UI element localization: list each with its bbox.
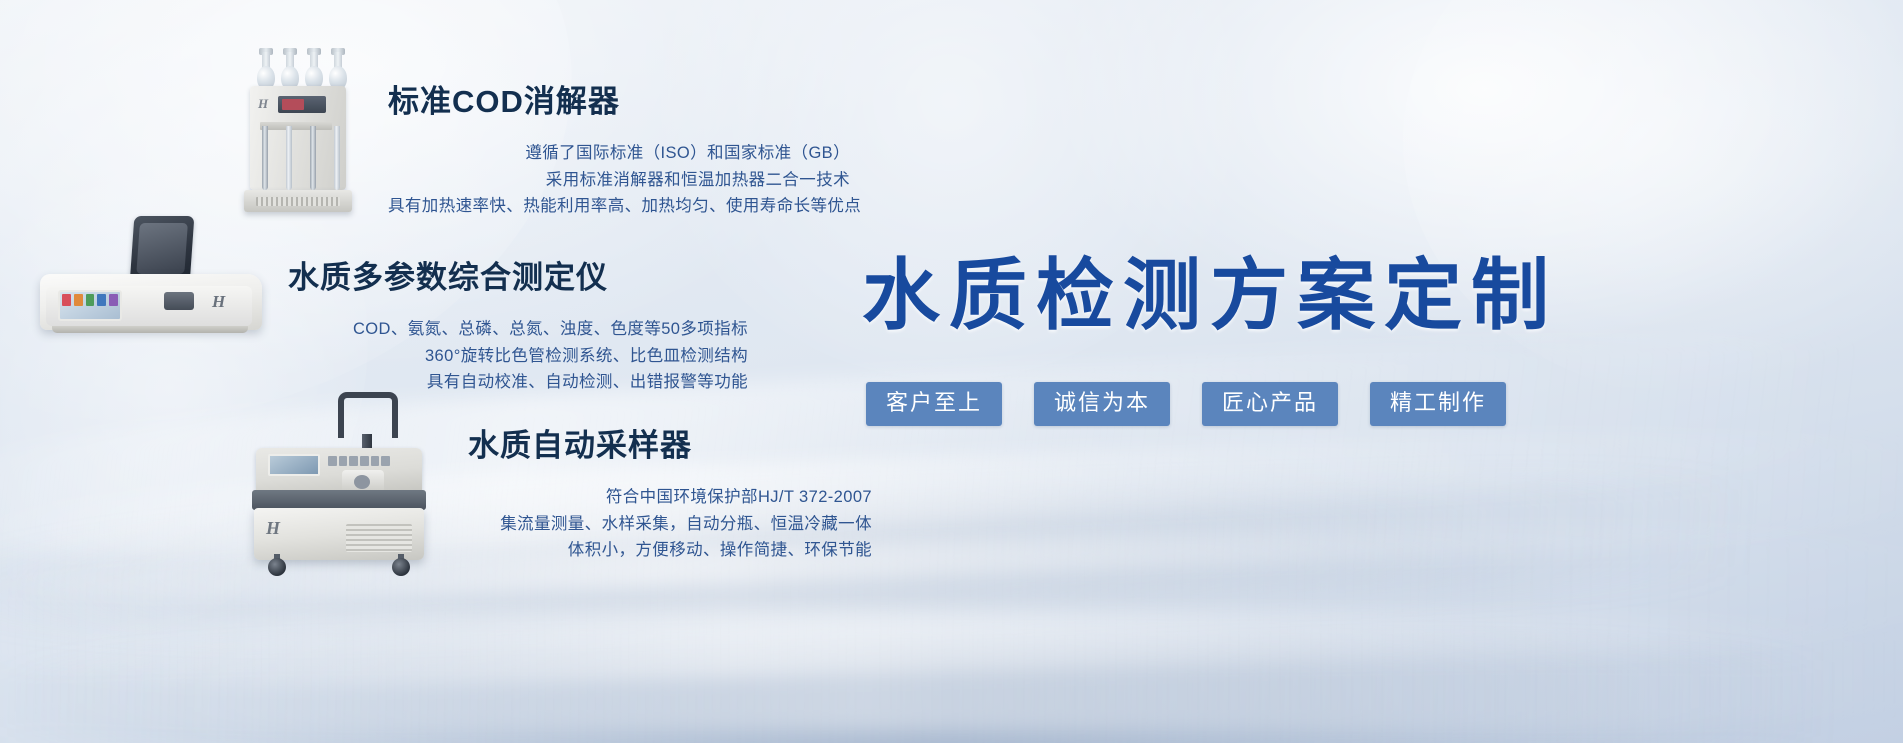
feature-line: 体积小，方便移动、操作简捷、环保节能 (468, 537, 872, 564)
badge-item: 匠心产品 (1202, 382, 1338, 426)
feature-description: COD、氨氮、总磷、总氮、浊度、色度等50多项指标 360°旋转比色管检测系统、… (288, 316, 748, 396)
sampler-mid-band (252, 490, 426, 510)
cod-tube (262, 126, 268, 190)
feature-line: 集流量测量、水样采集，自动分瓶、恒温冷藏一体 (468, 511, 872, 538)
feature-title: 水质自动采样器 (468, 420, 872, 465)
feature-line: 360°旋转比色管检测系统、比色皿检测结构 (288, 343, 748, 370)
feature-line: 具有加热速率快、热能利用率高、加热均匀、使用寿命长等优点 (388, 193, 850, 220)
feature-line: 遵循了国际标准（ISO）和国家标准（GB） (388, 140, 850, 167)
feature-line: COD、氨氮、总磷、总氮、浊度、色度等50多项指标 (288, 316, 748, 343)
sampler-handle (338, 392, 398, 438)
sampler-button-row (328, 456, 390, 466)
feature-line: 符合中国环境保护部HJ/T 372-2007 (468, 484, 872, 511)
cod-tube (286, 126, 292, 190)
feature-block-multi-parameter-analyzer: 水质多参数综合测定仪 COD、氨氮、总磷、总氮、浊度、色度等50多项指标 360… (288, 252, 748, 396)
feature-line: 采用标准消解器和恒温加热器二合一技术 (388, 167, 850, 194)
brand-monogram: H (266, 518, 280, 539)
sampler-wheel (392, 558, 410, 576)
sampler-vent-grille (346, 524, 412, 552)
badge-item: 诚信为本 (1034, 382, 1170, 426)
cod-vent-grille (256, 197, 340, 206)
banner-headline: 水质检测方案定制 (862, 233, 1558, 345)
badge-item: 精工制作 (1370, 382, 1506, 426)
background-wave-4 (0, 612, 1903, 732)
analyzer-sample-well (164, 292, 194, 310)
feature-description: 符合中国环境保护部HJ/T 372-2007 集流量测量、水样采集，自动分瓶、恒… (468, 484, 872, 564)
multi-parameter-analyzer-image: H (36, 216, 266, 342)
cod-tube (334, 126, 340, 190)
feature-title: 标准COD消解器 (388, 76, 850, 121)
badge-list: 客户至上 诚信为本 匠心产品 精工制作 (866, 382, 1506, 426)
promo-banner: H H H (0, 0, 1903, 743)
cod-label-strip (260, 122, 332, 130)
sampler-display-screen (268, 454, 320, 476)
background-wave-shadow-2 (0, 648, 1903, 743)
feature-description: 遵循了国际标准（ISO）和国家标准（GB） 采用标准消解器和恒温加热器二合一技术… (388, 140, 850, 220)
analyzer-base (52, 326, 248, 333)
feature-line: 具有自动校准、自动检测、出错报警等功能 (288, 369, 748, 396)
brand-monogram: H (212, 292, 225, 312)
analyzer-keypad (62, 294, 118, 306)
feature-block-auto-sampler: 水质自动采样器 符合中国环境保护部HJ/T 372-2007 集流量测量、水样采… (468, 420, 872, 564)
sampler-wheel (268, 558, 286, 576)
brand-monogram: H (258, 96, 272, 112)
feature-title: 水质多参数综合测定仪 (288, 252, 748, 297)
feature-block-cod-digester: 标准COD消解器 遵循了国际标准（ISO）和国家标准（GB） 采用标准消解器和恒… (388, 76, 850, 220)
auto-sampler-image: H (246, 392, 432, 582)
cod-tube (310, 126, 316, 190)
cod-digester-image: H (238, 52, 358, 212)
badge-item: 客户至上 (866, 382, 1002, 426)
cod-display-screen (282, 99, 304, 110)
